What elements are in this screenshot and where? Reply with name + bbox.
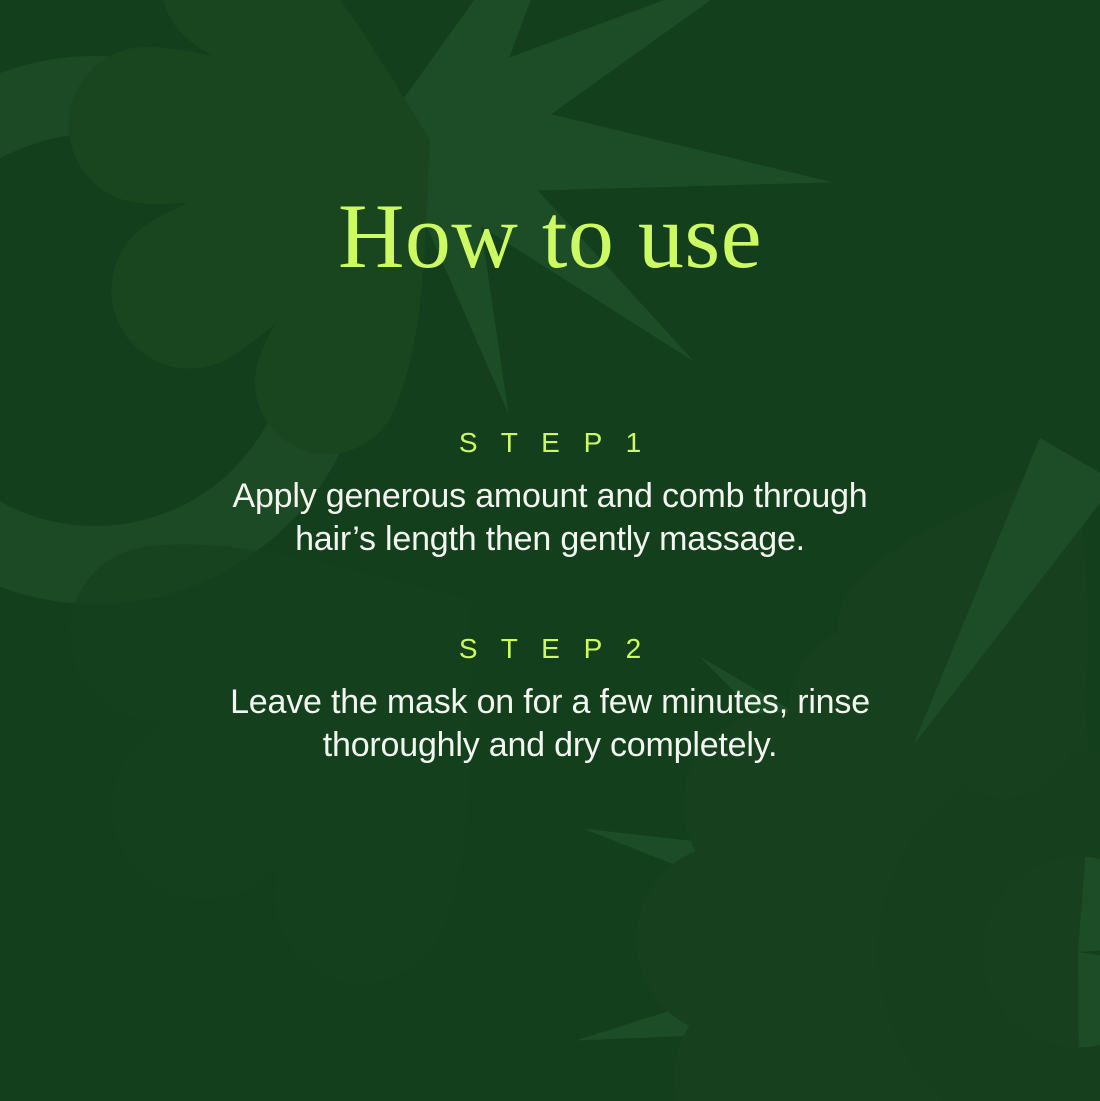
step-2-label: S T E P 2 — [170, 634, 930, 665]
step-2-description: Leave the mask on for a few minutes, rin… — [220, 681, 880, 767]
steps-list: S T E P 1 Apply generous amount and comb… — [0, 428, 1100, 767]
step-item-2: S T E P 2 Leave the mask on for a few mi… — [170, 634, 930, 766]
step-item-1: S T E P 1 Apply generous amount and comb… — [170, 428, 930, 560]
content-layer: How to use S T E P 1 Apply generous amou… — [0, 0, 1100, 1101]
step-1-description: Apply generous amount and comb through h… — [220, 475, 880, 561]
step-1-label: S T E P 1 — [170, 428, 930, 459]
page-title: How to use — [0, 190, 1100, 282]
poster-canvas: How to use S T E P 1 Apply generous amou… — [0, 0, 1100, 1101]
